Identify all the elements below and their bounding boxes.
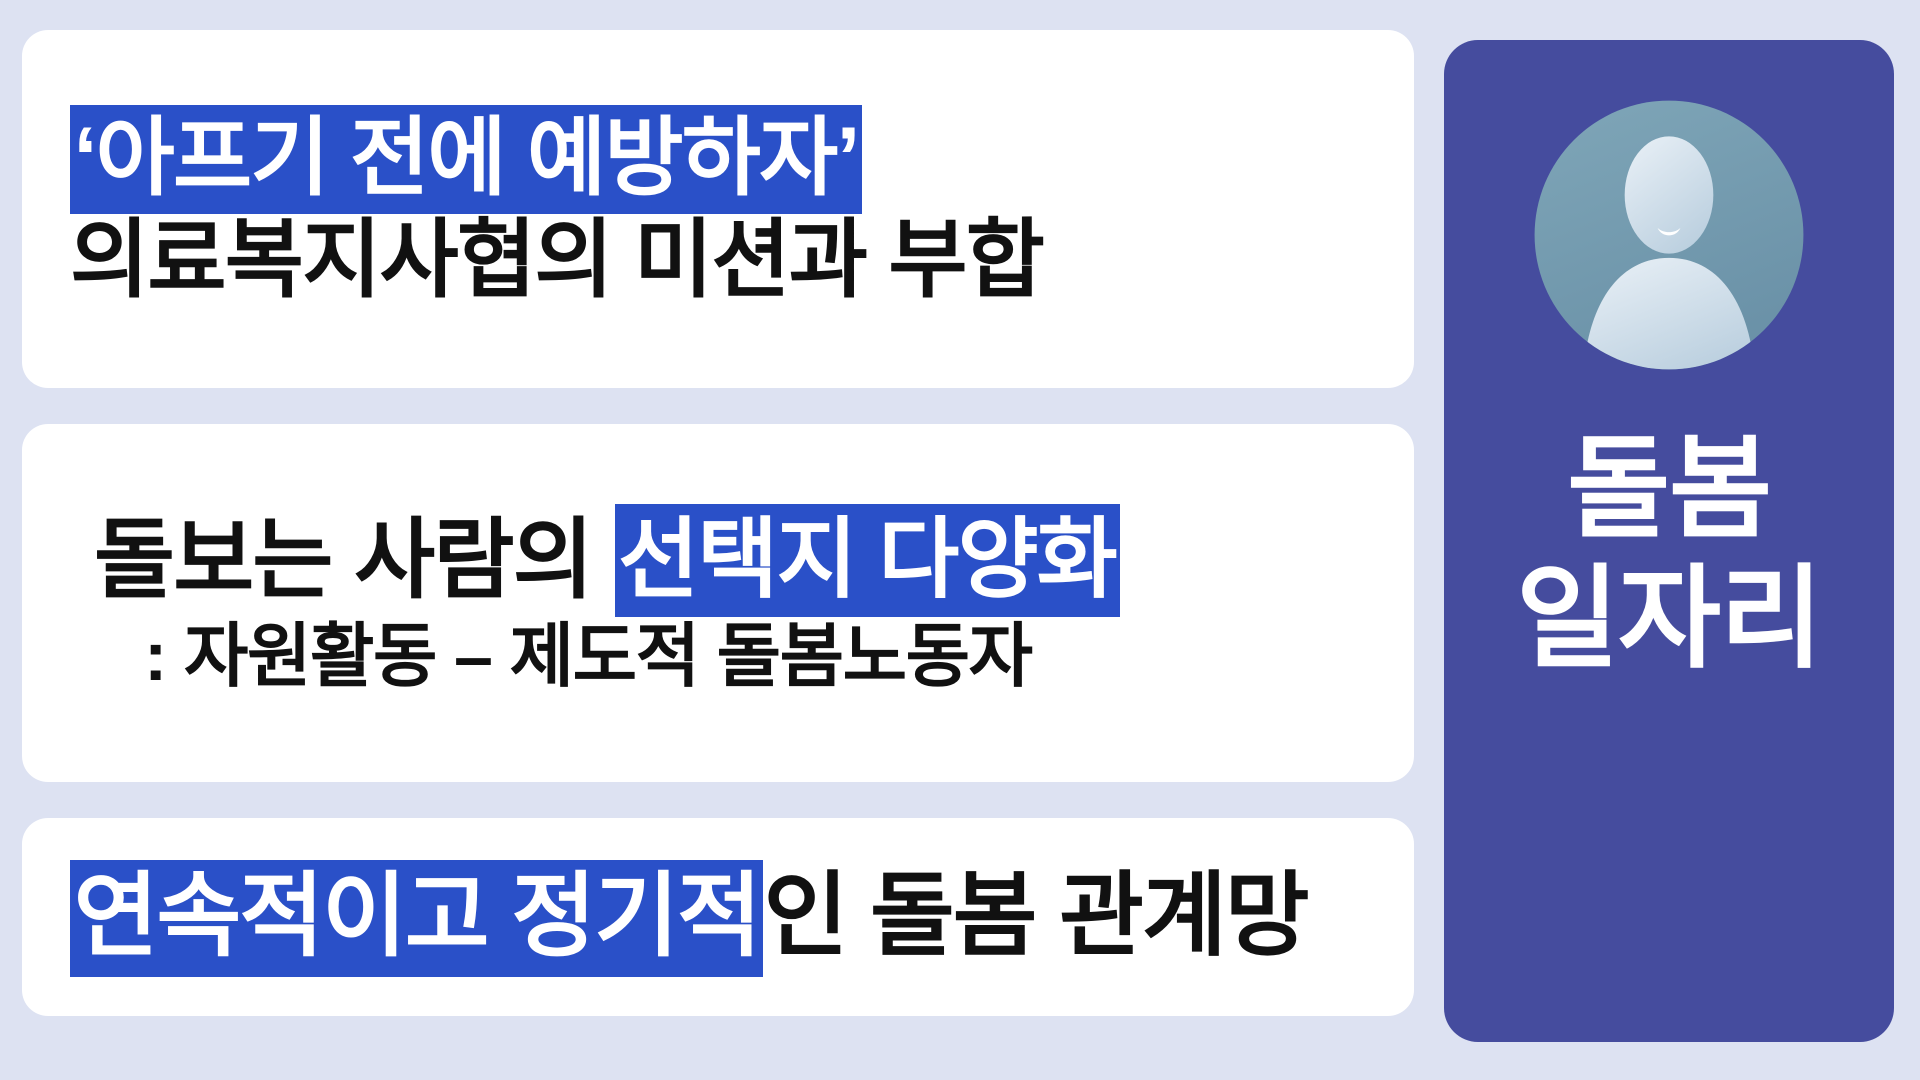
sidebar-panel: 돌봄 일자리 (1444, 40, 1894, 1042)
card-network-highlight: 연속적이고 정기적 (70, 860, 763, 977)
card-mission-highlight: ‘아프기 전에 예방하자’ (70, 105, 862, 215)
person-avatar-icon (1526, 92, 1812, 378)
card-mission-line-1: ‘아프기 전에 예방하자’ (70, 110, 1414, 206)
card-network-plain-after: 인 돌봄 관계망 (763, 865, 1307, 967)
sidebar-title-line-2: 일자리 (1516, 554, 1822, 684)
sidebar-title: 돌봄 일자리 (1516, 424, 1822, 684)
card-choice-plain-before: 돌보는 사람의 (94, 510, 615, 609)
card-mission-plain: 의료복지사협의 미션과 부합 (70, 212, 1043, 308)
card-choice-line-1: 돌보는 사람의 선택지 다양화 (70, 511, 1414, 610)
slide-root: ‘아프기 전에 예방하자’ 의료복지사협의 미션과 부합 돌보는 사람의 선택지… (0, 0, 1920, 1080)
card-choice: 돌보는 사람의 선택지 다양화 : 자원활동 – 제도적 돌봄노동자 (22, 424, 1414, 782)
card-choice-subtext: : 자원활동 – 제도적 돌봄노동자 (144, 617, 1032, 695)
card-network: 연속적이고 정기적인 돌봄 관계망 (22, 818, 1414, 1016)
card-mission-line-2: 의료복지사협의 미션과 부합 (70, 212, 1414, 308)
card-mission: ‘아프기 전에 예방하자’ 의료복지사협의 미션과 부합 (22, 30, 1414, 388)
card-stack: ‘아프기 전에 예방하자’ 의료복지사협의 미션과 부합 돌보는 사람의 선택지… (22, 30, 1414, 1052)
card-choice-line-2: : 자원활동 – 제도적 돌봄노동자 (70, 617, 1414, 695)
card-choice-highlight: 선택지 다양화 (615, 504, 1120, 617)
sidebar-title-line-1: 돌봄 (1516, 424, 1822, 554)
card-network-line-1: 연속적이고 정기적인 돌봄 관계망 (70, 865, 1414, 968)
